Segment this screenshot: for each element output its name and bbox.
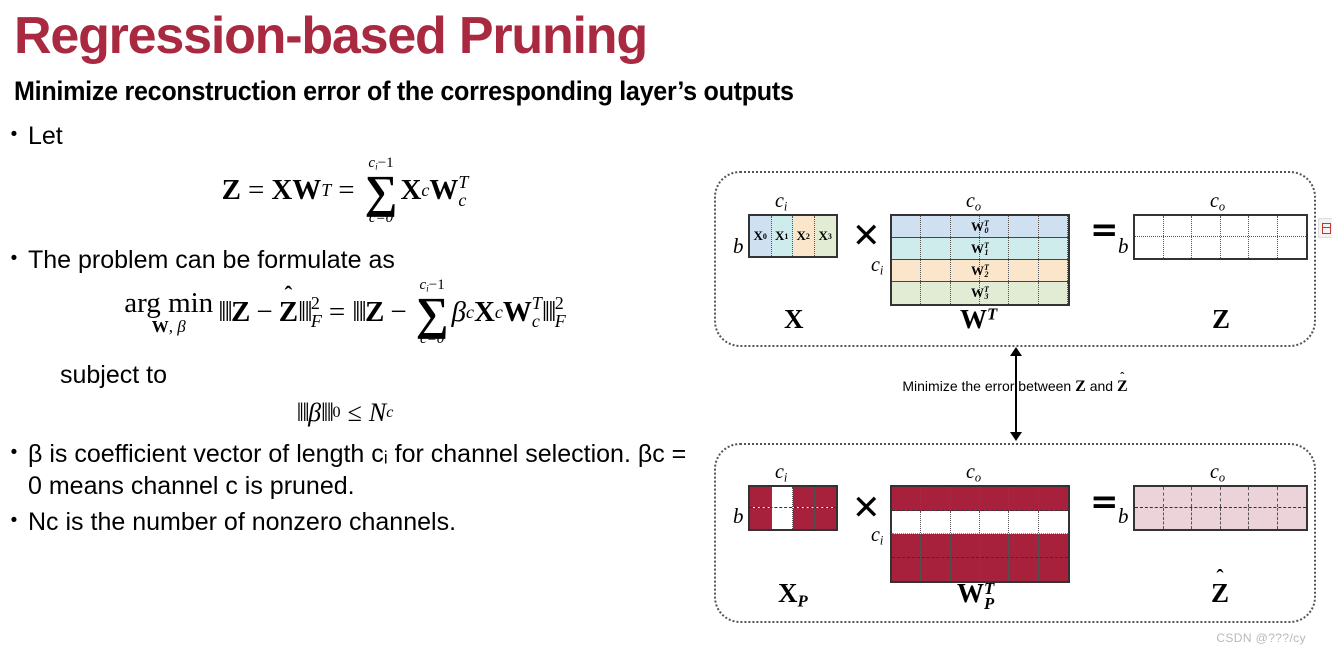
eq3-norm-open: ‖‖	[297, 398, 309, 428]
eq2-x-sub: c	[495, 302, 503, 323]
eq1-summation: ci−1 ∑ c=0	[365, 156, 398, 226]
matrix-row: WT0	[892, 216, 1068, 238]
top-z-dim-left: b	[1118, 234, 1129, 259]
eq1-sigma-glyph: ∑	[365, 173, 398, 211]
matrix-cell: X1	[772, 216, 794, 256]
eq1-equals-2: =	[338, 174, 354, 207]
matrix-cell	[892, 487, 921, 510]
eq3-beta: β	[308, 398, 321, 428]
eq2-norm2-open: ‖‖	[352, 296, 365, 329]
matrix-cell	[1164, 216, 1193, 236]
matrix-cell	[951, 282, 980, 304]
matrix-cell	[1192, 487, 1221, 507]
matrix-cell	[892, 238, 921, 259]
bottom-x-dim-top: ci	[775, 461, 787, 485]
subject-to-label: subject to	[0, 361, 690, 390]
matrix-cell	[921, 260, 950, 281]
matrix-cell	[1164, 487, 1193, 507]
eq2-w: W	[503, 296, 532, 329]
left-content-column: • Let Z = XWT = ci−1 ∑ c=0 XcWTc • The p…	[0, 120, 690, 538]
top-w-dim-top: co	[966, 190, 981, 214]
matrix-cell	[1039, 282, 1068, 304]
matrix-row	[1135, 237, 1306, 258]
bottom-z-dim-top: co	[1210, 461, 1225, 485]
eq2-w-sup: T	[532, 294, 542, 312]
bottom-x-dim-left: b	[733, 504, 744, 529]
bullet-dot-icon: •	[0, 244, 28, 274]
matrix-cell	[921, 534, 950, 557]
eq2-x: X	[474, 296, 495, 329]
top-z-matrix	[1133, 214, 1308, 260]
matrix-cell	[1135, 237, 1164, 258]
top-x-dim-left: b	[733, 234, 744, 259]
matrix-cell	[892, 260, 921, 281]
matrix-cell	[951, 260, 980, 281]
matrix-row: WT1	[892, 238, 1068, 260]
top-z-dim-top: co	[1210, 190, 1225, 214]
list-item: • Let	[0, 120, 690, 152]
matrix-cell	[980, 238, 1009, 259]
matrix-cell-pruned	[921, 511, 950, 534]
top-x-label: X	[784, 304, 804, 335]
eq2-w-sub: c	[532, 312, 542, 330]
eq3-N: N	[369, 398, 386, 428]
matrix-cell	[815, 487, 837, 507]
matrix-cell	[1192, 216, 1221, 236]
matrix-row	[1135, 216, 1306, 237]
eq1-x: X	[400, 174, 421, 207]
matrix-cell	[1009, 487, 1038, 510]
matrix-cell	[1278, 487, 1307, 507]
equation-argmin-objective: arg min W, β ‖‖ Z − ˆZ ‖‖2F = ‖‖ Z − ci−…	[0, 278, 690, 348]
eq1-w-sub: c	[458, 191, 468, 209]
matrix-cell	[1221, 216, 1250, 236]
matrix-cell	[1135, 487, 1164, 507]
matrix-cell	[921, 216, 950, 237]
eq2-norm-open: ‖‖	[218, 296, 231, 329]
minimize-note-zhat: ˆZ	[1117, 378, 1128, 396]
equation-constraint: ‖‖ β ‖‖0 ≤ Nc	[0, 398, 690, 428]
matrix-cell	[980, 216, 1009, 237]
matrix-cell	[892, 534, 921, 557]
matrix-cell	[1221, 487, 1250, 507]
matrix-row	[1135, 508, 1306, 529]
matrix-cell-pruned	[892, 511, 921, 534]
vertical-double-arrow-icon	[1015, 355, 1017, 433]
eq2-norm-sup: 2	[311, 294, 322, 312]
eq2-sigma-glyph: ∑	[416, 295, 449, 333]
matrix-cell	[1192, 508, 1221, 529]
eq2-beta: β	[452, 296, 466, 329]
matrix-cell	[1249, 487, 1278, 507]
eq2-norm2-sup: 2	[555, 294, 566, 312]
minimize-note-z: Z	[1075, 378, 1086, 395]
eq2-minus2: −	[390, 296, 406, 329]
eq2-norm2-sub: F	[555, 312, 566, 330]
minimize-note-mid: and	[1090, 378, 1113, 394]
top-x-dim-top: ci	[775, 190, 787, 214]
slide-root: Regression-based Pruning Minimize recons…	[0, 0, 1332, 651]
matrix-cell	[951, 216, 980, 237]
matrix-cell	[1135, 508, 1164, 529]
bullet-dot-icon: •	[0, 120, 28, 150]
top-z-label: Z	[1212, 304, 1230, 335]
list-item: • β is coefficient vector of length cᵢ f…	[0, 438, 690, 502]
eq2-z: Z	[231, 296, 250, 329]
top-w-label: WT	[960, 304, 997, 335]
page-title: Regression-based Pruning	[14, 6, 647, 66]
matrix-cell	[1192, 237, 1221, 258]
matrix-cell: X2	[793, 216, 815, 256]
eq1-xw-sup: T	[321, 180, 331, 201]
matrix-row: WT2	[892, 260, 1068, 282]
matrix-row	[750, 487, 836, 508]
bottom-equals-operator: =	[1090, 482, 1119, 522]
bullet-label-nc-def: Nᴄ is the number of nonzero channels.	[28, 506, 690, 538]
bottom-z-matrix	[1133, 485, 1308, 531]
eq1-xw: XW	[271, 174, 321, 207]
eq3-leq: ≤	[348, 398, 362, 428]
matrix-cell: X0	[750, 216, 772, 256]
matrix-cell-pruned	[1009, 511, 1038, 534]
eq2-beta-sub: c	[466, 302, 474, 323]
table-icon[interactable]	[1318, 218, 1332, 238]
matrix-cell	[1039, 558, 1068, 582]
bottom-w-dim-top: co	[966, 461, 981, 485]
matrix-cell	[921, 487, 950, 510]
bullet-dot-icon: •	[0, 438, 28, 468]
bullet-dot-icon: •	[0, 506, 28, 536]
list-item: • Nᴄ is the number of nonzero channels.	[0, 506, 690, 538]
eq2-norm-sub: F	[311, 312, 322, 330]
eq3-norm-sub: 0	[333, 404, 341, 422]
equation-z-definition: Z = XWT = ci−1 ∑ c=0 XcWTc	[0, 156, 690, 226]
eq3-norm-close: ‖‖	[321, 398, 333, 428]
bottom-w-dim-left: ci	[871, 524, 883, 548]
eq1-equals-1: =	[248, 174, 264, 207]
matrix-cell-pruned	[772, 508, 794, 529]
top-x-matrix: X0 X1 X2 X3	[748, 214, 838, 258]
minimize-note-prefix: Minimize the error between	[902, 378, 1071, 394]
matrix-cell	[980, 260, 1009, 281]
matrix-cell	[980, 282, 1009, 304]
matrix-cell	[1278, 237, 1307, 258]
matrix-cell	[951, 487, 980, 510]
matrix-row-pruned	[892, 511, 1068, 535]
matrix-cell	[892, 216, 921, 237]
matrix-cell	[1009, 260, 1038, 281]
matrix-cell: X3	[815, 216, 837, 256]
eq2-argmin: arg min W, β	[124, 289, 213, 335]
matrix-cell	[1039, 216, 1068, 237]
bottom-z-dim-left: b	[1118, 504, 1129, 529]
matrix-cell	[815, 508, 837, 529]
eq2-norm2-close: ‖‖	[542, 296, 555, 329]
eq3-N-sub: c	[386, 404, 393, 422]
eq2-minus: −	[256, 296, 272, 329]
matrix-cell	[1221, 237, 1250, 258]
csdn-watermark: CSDN @???/cy	[1216, 631, 1306, 645]
matrix-cell	[793, 487, 815, 507]
matrix-cell	[1278, 508, 1307, 529]
bottom-w-matrix	[890, 485, 1070, 583]
matrix-cell	[921, 282, 950, 304]
matrix-cell	[750, 508, 772, 529]
matrix-cell	[1039, 238, 1068, 259]
matrix-cell	[793, 508, 815, 529]
bullet-label-formulate: The problem can be formulate as	[28, 244, 690, 276]
eq2-sum-lower: c=0	[420, 332, 444, 347]
matrix-cell	[1249, 508, 1278, 529]
eq1-w: W	[429, 174, 458, 207]
matrix-cell	[1278, 216, 1307, 236]
bullet-label-beta-def: β is coefficient vector of length cᵢ for…	[28, 438, 690, 502]
matrix-row: WT3	[892, 282, 1068, 304]
matrix-cell	[750, 487, 772, 507]
bottom-multiply-operator: ✕	[852, 488, 881, 528]
eq2-argmin-top: arg min	[124, 289, 213, 318]
matrix-cell	[951, 238, 980, 259]
bottom-x-matrix	[748, 485, 838, 531]
eq2-norm-close: ‖‖	[298, 296, 311, 329]
matrix-cell-pruned	[1039, 511, 1068, 534]
eq2-zhat: ˆZ	[279, 296, 298, 329]
bottom-z-label: ˆZ	[1211, 578, 1229, 609]
matrix-cell	[1135, 216, 1164, 236]
eq1-sum-lower: c=0	[369, 211, 393, 226]
matrix-cell	[1009, 238, 1038, 259]
top-w-dim-left: ci	[871, 254, 883, 278]
matrix-cell	[1249, 216, 1278, 236]
matrix-row	[1135, 487, 1306, 508]
eq2-summation: ci−1 ∑ c=0	[416, 278, 449, 348]
matrix-row	[892, 487, 1068, 511]
matrix-cell	[1009, 216, 1038, 237]
matrix-cell-pruned	[980, 511, 1009, 534]
top-equals-operator: =	[1090, 210, 1119, 250]
top-w-matrix: WT0 WT1 WT2 WT3	[890, 214, 1070, 306]
top-multiply-operator: ✕	[852, 216, 881, 256]
bottom-x-label: XP	[778, 578, 808, 612]
matrix-cell	[980, 534, 1009, 557]
matrix-cell	[951, 534, 980, 557]
matrix-cell	[1221, 508, 1250, 529]
matrix-cell	[892, 282, 921, 304]
matrix-cell	[1009, 558, 1038, 582]
list-item: • The problem can be formulate as	[0, 244, 690, 276]
eq1-w-sup: T	[458, 173, 468, 191]
matrix-cell	[892, 558, 921, 582]
eq2-argmin-sub: W, β	[152, 318, 186, 335]
matrix-cell	[1009, 534, 1038, 557]
eq2-z2: Z	[365, 296, 384, 329]
matrix-cell	[980, 487, 1009, 510]
bullet-label-let: Let	[28, 120, 690, 152]
matrix-cell	[1164, 237, 1193, 258]
matrix-row	[750, 508, 836, 529]
bottom-w-label: WTP	[957, 578, 994, 611]
eq1-lhs: Z	[222, 174, 241, 207]
matrix-cell	[1039, 534, 1068, 557]
matrix-cell	[921, 238, 950, 259]
eq2-equals: =	[329, 296, 345, 329]
eq1-x-sub: c	[421, 180, 429, 201]
matrix-cell	[921, 558, 950, 582]
grid-glyph	[1322, 223, 1331, 234]
matrix-cell	[1164, 508, 1193, 529]
matrix-cell	[1039, 487, 1068, 510]
matrix-cell-pruned	[772, 487, 794, 507]
matrix-cell	[1009, 282, 1038, 304]
matrix-row	[892, 534, 1068, 558]
page-subtitle: Minimize reconstruction error of the cor…	[14, 76, 794, 107]
matrix-cell	[1039, 260, 1068, 281]
matrix-cell	[1249, 237, 1278, 258]
matrix-cell-pruned	[951, 511, 980, 534]
